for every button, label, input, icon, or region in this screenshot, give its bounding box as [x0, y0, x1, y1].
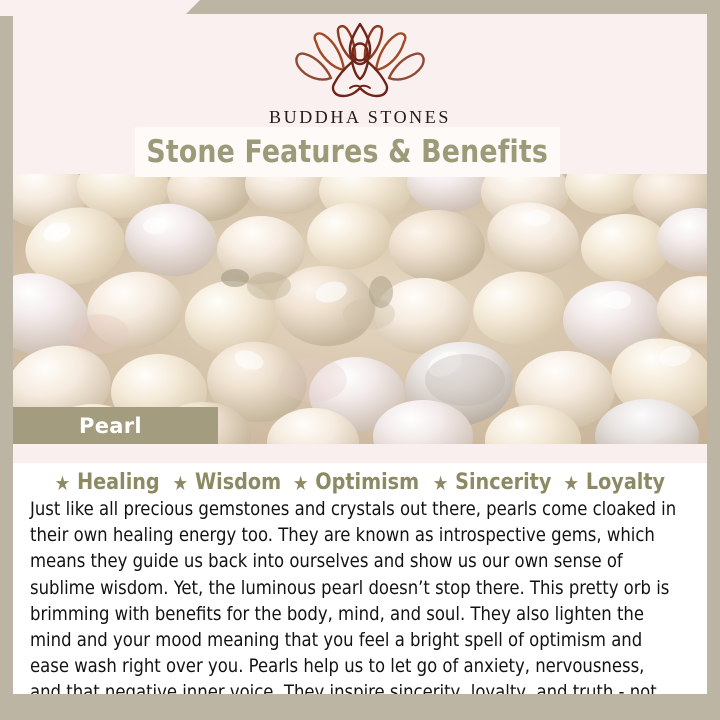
frame-left-border [0, 0, 13, 720]
frame-bottom-border [0, 694, 720, 720]
keyword-item-optimism: ★ Optimism [285, 470, 420, 495]
keyword-label: Sincerity [455, 470, 551, 495]
keyword-item-healing: ★ Healing [55, 470, 160, 495]
pink-divider [13, 444, 707, 463]
frame-corner-cut [0, 0, 13, 16]
keyword-label: Loyalty [586, 470, 665, 495]
frame-top-notch [0, 0, 210, 14]
star-icon: ★ [55, 473, 71, 493]
keyword-list: ★ Healing ★ Wisdom ★ Optimism ★ Sincerit… [13, 470, 707, 495]
stone-name-bar: Pearl [13, 407, 218, 444]
frame-right-border [707, 0, 720, 720]
page-title: Stone Features & Benefits [147, 134, 549, 170]
keyword-item-loyalty: ★ Loyalty [555, 470, 665, 495]
star-icon: ★ [563, 473, 579, 493]
star-icon: ★ [172, 473, 188, 493]
title-banner: Stone Features & Benefits [135, 127, 560, 177]
brand-logo: BUDDHA STONES [13, 22, 707, 128]
lotus-meditation-icon [13, 22, 707, 105]
keyword-label: Healing [77, 470, 160, 495]
keyword-label: Optimism [316, 470, 420, 495]
keyword-item-sincerity: ★ Sincerity [424, 470, 551, 495]
pearls-photo [13, 174, 707, 444]
keyword-label: Wisdom [195, 470, 281, 495]
stone-name-label: Pearl [79, 414, 142, 438]
star-icon: ★ [432, 473, 448, 493]
keyword-item-wisdom: ★ Wisdom [163, 470, 280, 495]
description-text: Just like all precious gemstones and cry… [30, 497, 680, 720]
content-area: ★ Healing ★ Wisdom ★ Optimism ★ Sincerit… [13, 463, 707, 694]
brand-name: BUDDHA STONES [13, 107, 707, 128]
star-icon: ★ [293, 473, 309, 493]
stone-features-card: BUDDHA STONES Stone Features & Benefits [0, 0, 720, 720]
